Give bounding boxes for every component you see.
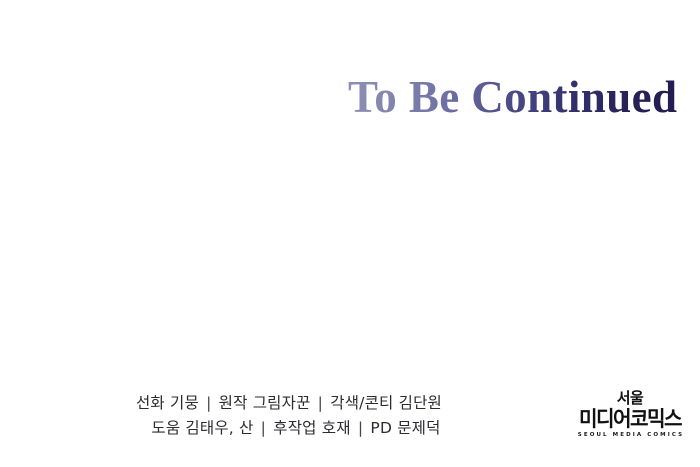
to-be-continued-banner: To Be Continued (0, 72, 700, 128)
publisher-logo-romanized: SEOUL MEDIA COMICS (566, 431, 694, 439)
credits-separator: | (316, 394, 325, 412)
credits-separator: | (356, 419, 365, 437)
credits-separator: | (259, 419, 268, 437)
credit-adaptation-conti: 각색/콘티 김단원 (330, 394, 442, 412)
comic-end-page: To Be Continued 선화 기뭉 | 원작 그림자꾼 | 각색/콘티 … (0, 0, 700, 467)
publisher-logo-seoul: 서울 (566, 390, 694, 407)
credits-separator: | (204, 394, 213, 412)
credits-block: 선화 기뭉 | 원작 그림자꾼 | 각색/콘티 김단원 도움 김태우, 산 | … (0, 391, 568, 441)
credits-line-2: 도움 김태우, 산 | 후작업 호재 | PD 문제덕 (0, 416, 568, 441)
credit-assistants: 도움 김태우, 산 (151, 419, 253, 437)
publisher-logo: 서울 미디어코믹스 SEOUL MEDIA COMICS (566, 390, 694, 439)
page-title: To Be Continued (348, 72, 677, 122)
credit-art: 선화 기뭉 (136, 394, 199, 412)
credit-post-production: 후작업 호재 (273, 419, 350, 437)
publisher-logo-media-comics: 미디어코믹스 (569, 407, 692, 431)
credits-line-1: 선화 기뭉 | 원작 그림자꾼 | 각색/콘티 김단원 (0, 391, 568, 416)
credit-pd: PD 문제덕 (370, 419, 440, 437)
credit-original-work: 원작 그림자꾼 (219, 394, 311, 412)
